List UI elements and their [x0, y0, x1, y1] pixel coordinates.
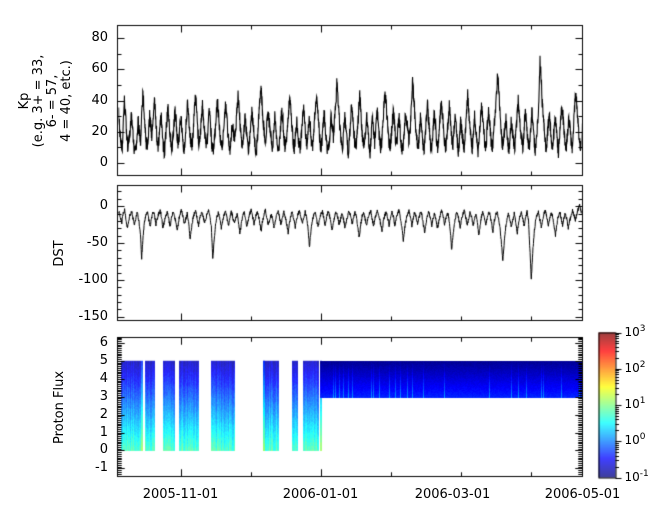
- plot-canvas: [0, 0, 665, 523]
